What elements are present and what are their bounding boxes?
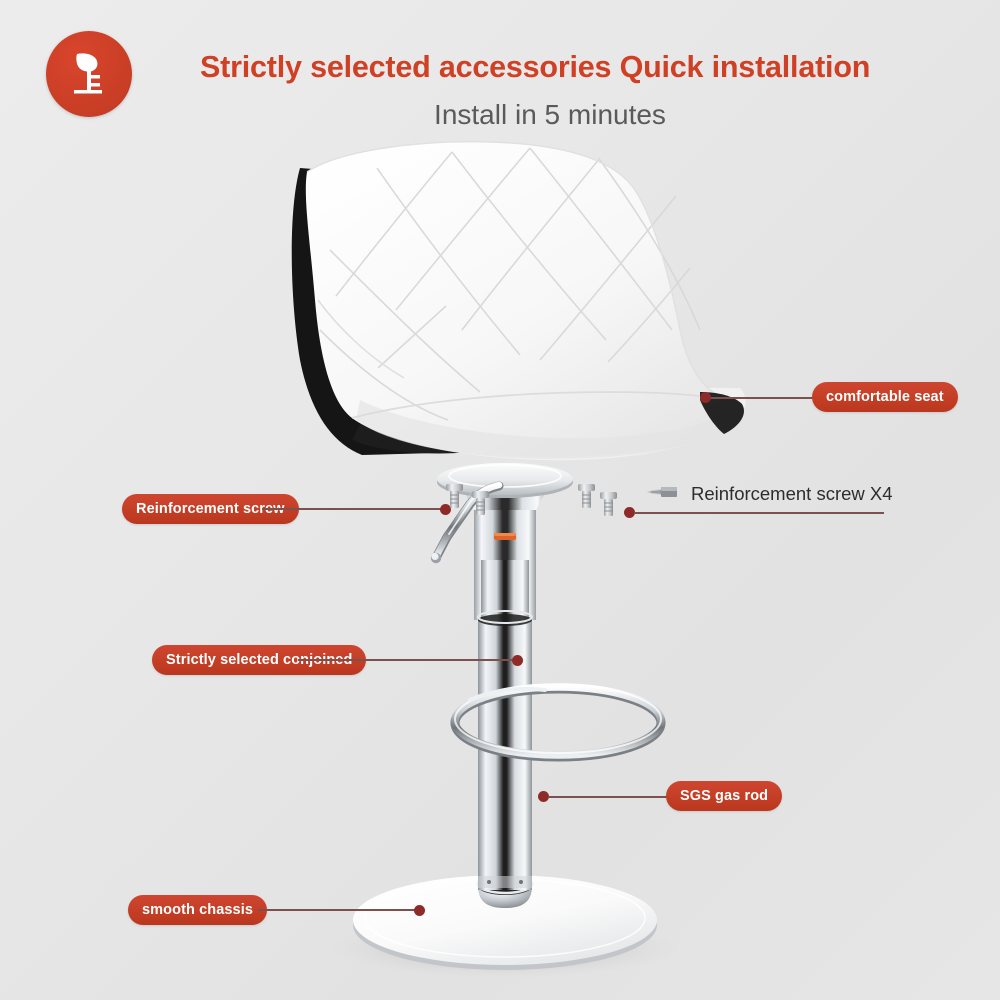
screw-icon bbox=[446, 484, 463, 508]
screw-icon bbox=[578, 484, 595, 508]
loose-screws-group bbox=[0, 0, 1000, 1000]
screw-icon bbox=[600, 492, 617, 516]
screw-icon bbox=[472, 491, 489, 515]
infographic-canvas: Strictly selected accessories Quick inst… bbox=[0, 0, 1000, 1000]
